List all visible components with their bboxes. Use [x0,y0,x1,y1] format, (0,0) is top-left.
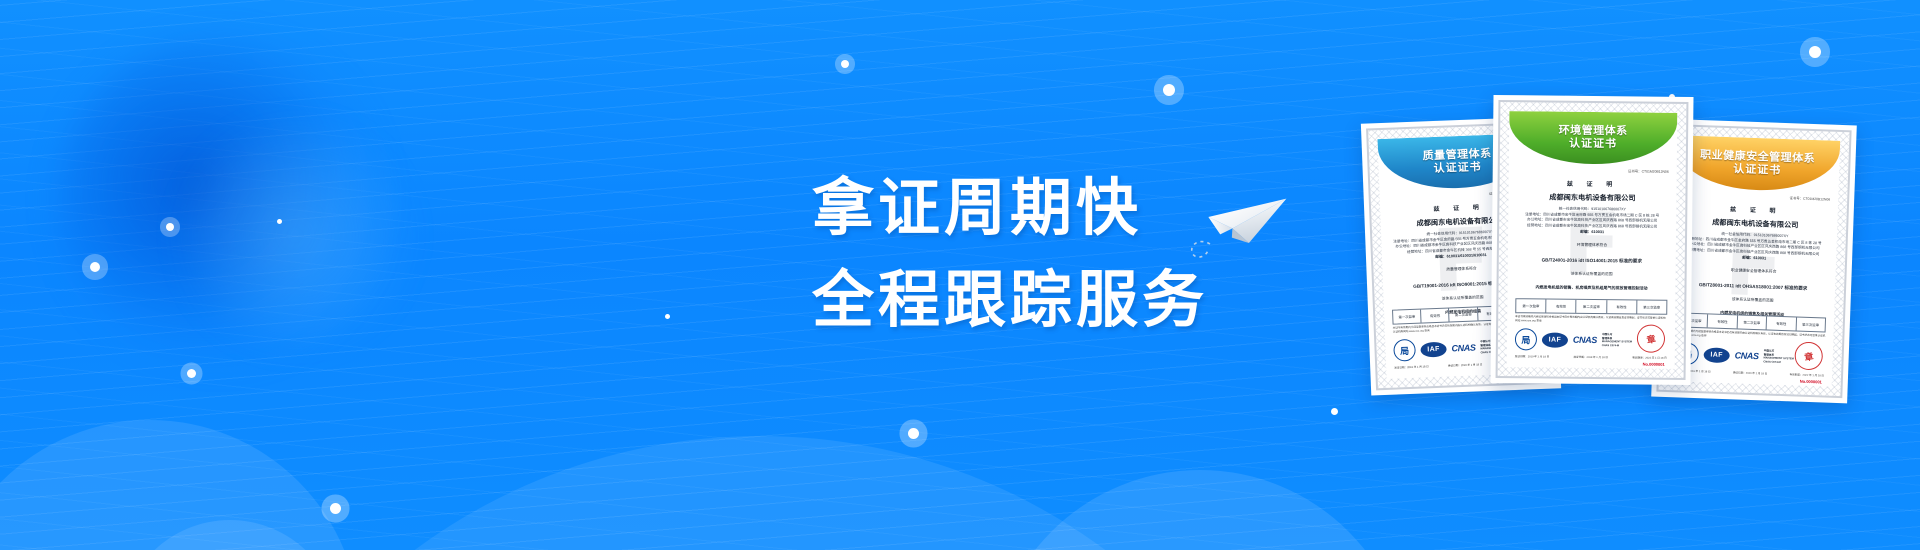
dot-10 [1809,46,1821,58]
dot-2 [90,262,100,272]
cert-audit-cell: 第三次监审 [1637,300,1666,313]
dot-5 [330,503,341,514]
cert-audit-cell: 有效性 [1708,314,1738,328]
cert-header-banner: 环境管理体系认证证书 [1509,111,1678,165]
cert-heading: 兹 证 明 [1517,178,1669,189]
cert-audit-table: 第一次监审有效性第二次监审有效性第三次监审 [1515,298,1667,315]
cert-header-banner: 职业健康安全管理体系认证证书 [1675,135,1841,193]
dot-12 [665,314,670,319]
paper-plane-icon [1186,186,1296,264]
headline-line-2: 全程跟踪服务 [812,254,1208,346]
certificate-group: F质量管理体系认证证书证书号：CT01M20B12N06兹 证 明成都闽东电机设… [1366,96,1920,476]
cert-expiry-date: 有效期至：2022 年 1 月 18 日 [1632,355,1666,359]
dot-3 [187,369,196,378]
cert-serial: 证书号：CT01M20B12N06 [1682,191,1830,201]
cert-title-line-2: 认证证书 [1433,161,1481,176]
cert-note: 本证书有效期内凡经监督审核合格且本证书仍在有效期内由认证机构确认有效，认证有效期… [1515,315,1667,324]
cnas-logo-icon: CNAS [1735,350,1759,361]
iaf-logo-icon: IAF [1542,332,1568,347]
dot-7 [1163,84,1175,96]
cert-system-label: 环境管理体系符合 [1516,243,1668,250]
cert-ms-block: 中国认可管理体系MANAGEMENT SYSTEMCNAS C074-M [1763,349,1794,364]
cnas-logo-icon: CNAS [1573,335,1597,345]
cert-audit-cell: 第一次监审 [1516,299,1546,312]
cert-audit-cell: 第二次监审 [1577,300,1607,313]
cert-expiry-date: 有效期至：2022 年 1 月 18 日 [1790,372,1825,377]
cert-body: 证书号：CT01M20B12N06兹 证 明成都闽东电机设备有限公司统一社会信用… [1515,167,1668,292]
cert-number: No.0000001 [1800,379,1822,385]
cert-ms-line: CNAS C074-M [1602,344,1632,348]
cert-page: F职业健康安全管理体系认证证书证书号：CT01M20B12N06兹 证 明成都闽… [1668,135,1840,387]
cnca-logo-icon: 局 [1393,339,1416,362]
cert-body: 证书号：CT01M20B12N06兹 证 明成都闽东电机设备有限公司统一社会信用… [1678,191,1830,319]
dot-9 [1331,408,1338,415]
cert-company-name: 成都闽东电机设备有限公司 [1681,216,1829,231]
cert-issue-date: 发证日期：2019 年 1 月 18 日 [1394,364,1429,369]
cert-scope: 内燃发电机组的销售、机房噪声及机组尾气的排放管理控制活动 [1515,285,1667,293]
promo-banner: 拿证周期快 全程跟踪服务 [0,0,1920,550]
dot-1 [166,223,174,231]
cert-valid-date: 换证日期：2019 年 1 月 18 日 [1733,370,1768,375]
cnca-logo-icon: 局 [1515,328,1537,350]
cert-number: No.0000001 [1643,362,1665,367]
environment-management-certificate[interactable]: F环境管理体系认证证书证书号：CT01M20B12N06兹 证 明成都闽东电机设… [1490,95,1693,385]
cert-standard: GB/T24001-2016 idt ISO14001:2015 标准的要求 [1516,258,1668,266]
cert-audit-cell: 第二次监审 [1737,315,1767,329]
decor-blob-light [180,120,410,350]
dot-8 [908,428,919,439]
iaf-logo-icon: IAF [1420,341,1447,357]
cert-inner-frame: F环境管理体系认证证书证书号：CT01M20B12N06兹 证 明成都闽东电机设… [1496,100,1689,380]
cert-ms-block: 中国认可管理体系MANAGEMENT SYSTEMCNAS C074-M [1602,333,1632,347]
cert-heading: 兹 证 明 [1682,202,1830,216]
cert-postcode: 邮编：610031 [1516,228,1668,236]
cert-audit-cell: 第一次监审 [1393,310,1422,324]
cert-system-label: 职业健康安全管理体系符合 [1680,267,1828,277]
cert-valid-date: 换证日期：2019 年 1 月 18 日 [1448,362,1483,367]
cert-audit-cell: 有效性 [1767,316,1797,330]
cert-company-name: 成都闽东电机设备有限公司 [1516,192,1668,204]
cert-standard: GB/T28001-2011 idt OHSAS18001:2007 标准的要求 [1679,282,1827,293]
cert-serial: 证书号：CT01M20B12N06 [1517,167,1669,174]
cert-audit-cell: 有效性 [1546,300,1576,313]
cnas-logo-icon: CNAS [1451,343,1475,354]
cert-valid-date: 换证日期：2019 年 1 月 18 日 [1574,355,1608,359]
cert-audit-cell: 第三次监审 [1796,318,1825,332]
cert-scope-label: 该体系认证所覆盖的范围 [1679,296,1827,306]
cert-audit-cell: 第二次监审 [1449,307,1478,321]
headline-line-1: 拿证周期快 [812,162,1208,254]
cert-audit-cell: 有效性 [1421,308,1450,322]
cert-footer: 发证日期：2019 年 1 月 18 日换证日期：2019 年 1 月 18 日… [1515,354,1667,360]
cert-audit-cell: 有效性 [1607,300,1637,313]
cert-title-line-2: 认证证书 [1569,138,1617,151]
cert-title-line-2: 认证证书 [1733,163,1781,178]
cert-scope-label: 该体系认证所覆盖的范围 [1516,272,1668,279]
iaf-logo-icon: IAF [1703,347,1730,363]
headline: 拿证周期快 全程跟踪服务 [812,162,1208,346]
dot-4 [277,219,282,224]
cert-issue-date: 发证日期：2019 年 1 月 18 日 [1515,354,1549,358]
dot-6 [841,60,849,68]
cert-page: F环境管理体系认证证书证书号：CT01M20B12N06兹 证 明成都闽东电机设… [1507,111,1678,369]
